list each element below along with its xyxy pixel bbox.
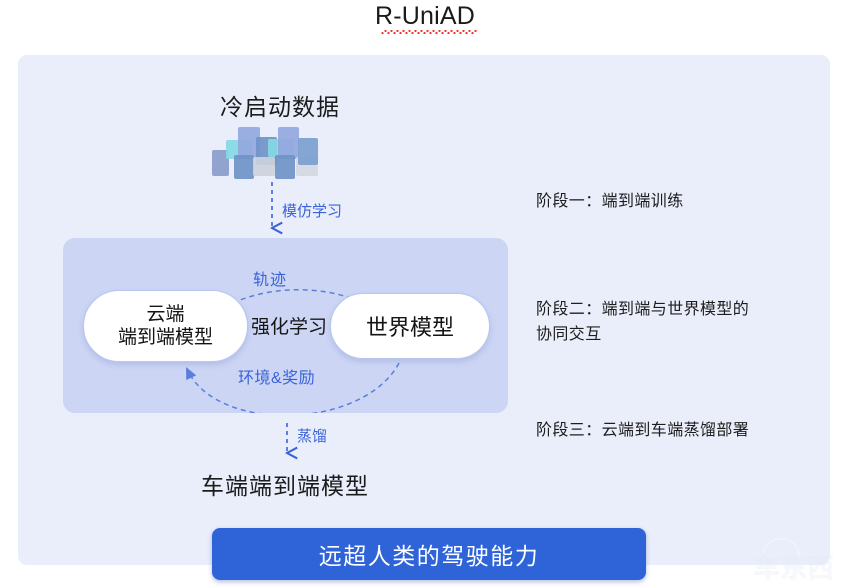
arrow-down-dashed-icon	[275, 421, 385, 463]
stage-2-description-line2: 协同交互	[536, 323, 786, 348]
reinforcement-learning-label: 强化学习	[243, 312, 335, 339]
distillation-arrow: 蒸馏	[275, 421, 385, 463]
data-block-5	[253, 157, 275, 176]
cta-label: 远超人类的驾驶能力	[319, 537, 540, 571]
stage-2-description-line1: 阶段二：端到端与世界模型的	[536, 298, 786, 323]
stage-3-description: 阶段三：云端到车端蒸馏部署	[536, 419, 749, 444]
cold-start-data-label: 冷启动数据	[160, 88, 400, 122]
cloud-end-to-end-model-node[interactable]: 云端 端到端模型	[83, 290, 248, 362]
cloud-model-line2: 端到端模型	[118, 326, 213, 349]
world-model-label: 世界模型	[366, 310, 454, 342]
page-title: R-UniAD	[0, 2, 850, 33]
imitation-learning-label: 模仿学习	[282, 200, 342, 221]
trajectory-label: 轨迹	[253, 266, 287, 290]
vehicle-end-to-end-model-label: 车端端到端模型	[140, 467, 430, 501]
data-block-8	[275, 155, 295, 179]
environment-reward-label: 环境&奖励	[238, 364, 315, 388]
distillation-label: 蒸馏	[297, 425, 327, 446]
stage-2-description: 阶段二：端到端与世界模型的 协同交互	[536, 298, 786, 348]
page-title-text: R-UniAD	[375, 2, 475, 33]
stage-1-description: 阶段一：端到端训练	[536, 190, 684, 215]
cloud-model-line1: 云端	[118, 303, 213, 326]
data-block-3	[234, 155, 254, 179]
data-blocks-icon	[212, 127, 332, 179]
imitation-learning-arrow: 模仿学习	[258, 180, 378, 238]
cta-banner[interactable]: 远超人类的驾驶能力	[212, 528, 646, 580]
world-model-node[interactable]: 世界模型	[330, 293, 490, 359]
data-block-10	[298, 138, 318, 165]
